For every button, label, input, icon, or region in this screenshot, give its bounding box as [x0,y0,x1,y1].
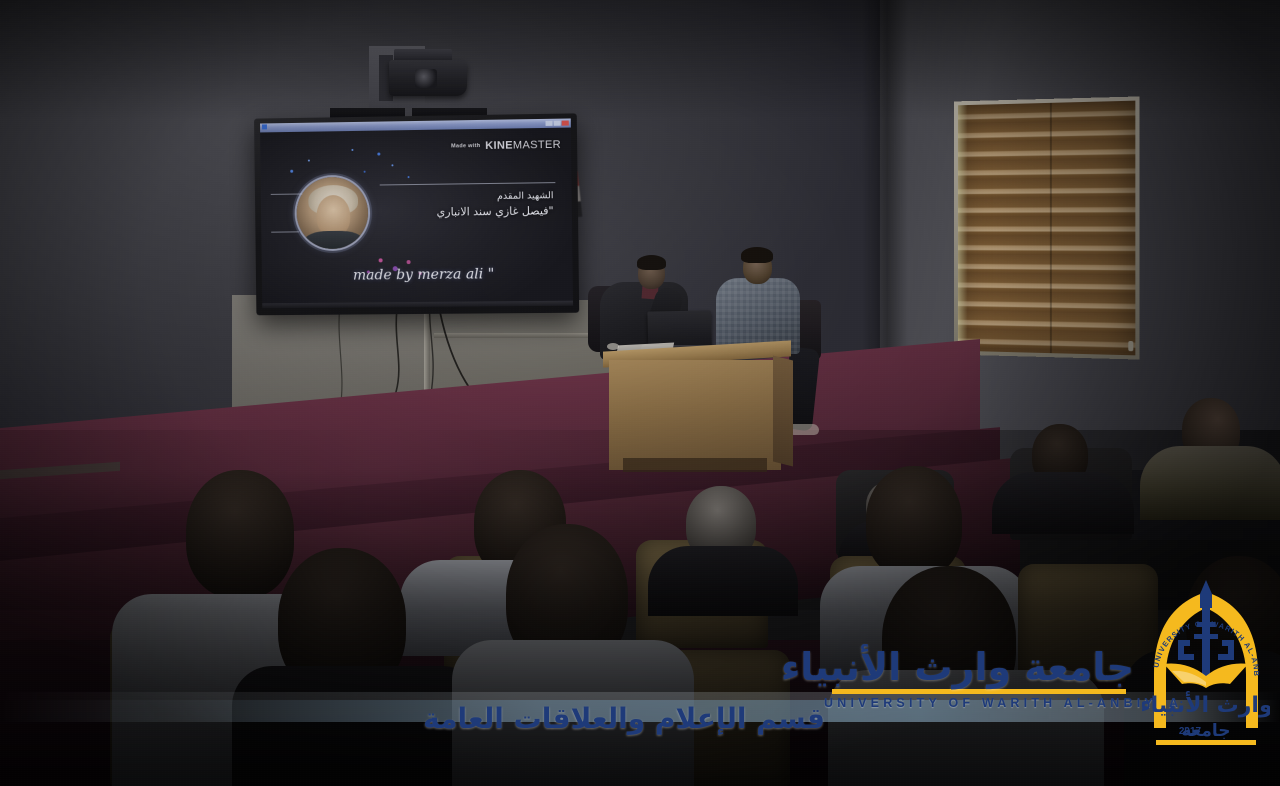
watermark-brand-light: MASTER [513,139,561,152]
sparkle [391,164,393,166]
maximize-icon[interactable] [554,121,561,126]
slide-credit: made by merza ali " [353,266,494,283]
university-wordmark: جامعة وارث الأنبياء UNIVERSITY OF WARITH… [824,648,1134,710]
watermark-prefix: Made with [451,143,480,149]
lecture-hall-photo: Made with KINEMASTER الشهيد المقدم "فيصل… [0,0,1280,786]
presentation-display[interactable]: Made with KINEMASTER الشهيد المقدم "فيصل… [254,113,579,315]
slide-subject-name: "فيصل غازي سند الانباري [437,204,554,218]
desk-toe-kick [623,458,767,472]
slide-headline: الشهيد المقدم [497,190,554,202]
emblem-arabic-main: وارث الأنبياء [1142,690,1270,718]
watermark-brand-bold: KINE [485,139,513,151]
portrait-shirt [305,231,363,250]
emblem-year: 2017 [1179,726,1202,737]
projector-lens [415,69,437,88]
university-emblem: UNIVERSITY OF WARITH AL-ANBIYAA وارث الأ… [1142,578,1270,758]
audience-head [186,470,294,598]
window-light-leak [958,105,967,351]
wordmark-gold-rule [832,689,1126,694]
blind-pull-handle[interactable] [1128,341,1133,351]
university-name-arabic: جامعة وارث الأنبياء [824,648,1134,686]
window-blinds [958,101,1135,356]
emblem-kufic-left [1178,640,1194,660]
close-icon[interactable] [562,121,569,126]
sparkle [379,258,383,262]
presenter-left-hair [637,255,666,270]
emblem-kufic-right [1218,640,1234,660]
sparkle [364,171,366,173]
emblem-base-rule [1156,740,1256,745]
emblem-pen-nib [1200,580,1212,608]
presenter-right-shoe [789,424,819,435]
sparkle [308,160,310,162]
sparkle [407,260,411,264]
sparkle [351,149,353,151]
audience-shoulders [648,546,798,616]
display-panel: Made with KINEMASTER الشهيد المقدم "فيصل… [260,118,573,308]
window [954,96,1139,359]
decor-rule [380,182,556,185]
sparkle [377,153,380,156]
blind-seam [1050,103,1052,353]
desk-front-panel [609,360,781,470]
window-frame [954,96,1139,359]
audience-shoulders [992,472,1134,534]
kinemaster-watermark: Made with KINEMASTER [451,136,561,156]
university-name-english: UNIVERSITY OF WARITH AL-ANBIYAA [824,696,1134,710]
desk-side-panel [773,356,793,467]
emblem-pen-shaft [1202,608,1210,680]
video-slide: Made with KINEMASTER الشهيد المقدم "فيصل… [260,128,573,309]
portrait-photo [296,177,368,250]
app-icon [262,124,267,129]
os-taskbar[interactable] [262,301,573,309]
sparkle [290,170,293,173]
window-controls[interactable] [545,121,568,126]
decor-rule [271,193,303,194]
sparkle [408,176,410,178]
minimize-icon[interactable] [545,121,552,126]
audience-shoulders [1140,446,1280,520]
audience-head [866,466,962,578]
decor-rule [271,231,299,232]
department-label: قسم الإعلام والعلاقات العامة [423,702,825,735]
presenter-right-hair [741,247,773,263]
presenter-desk [603,346,791,474]
